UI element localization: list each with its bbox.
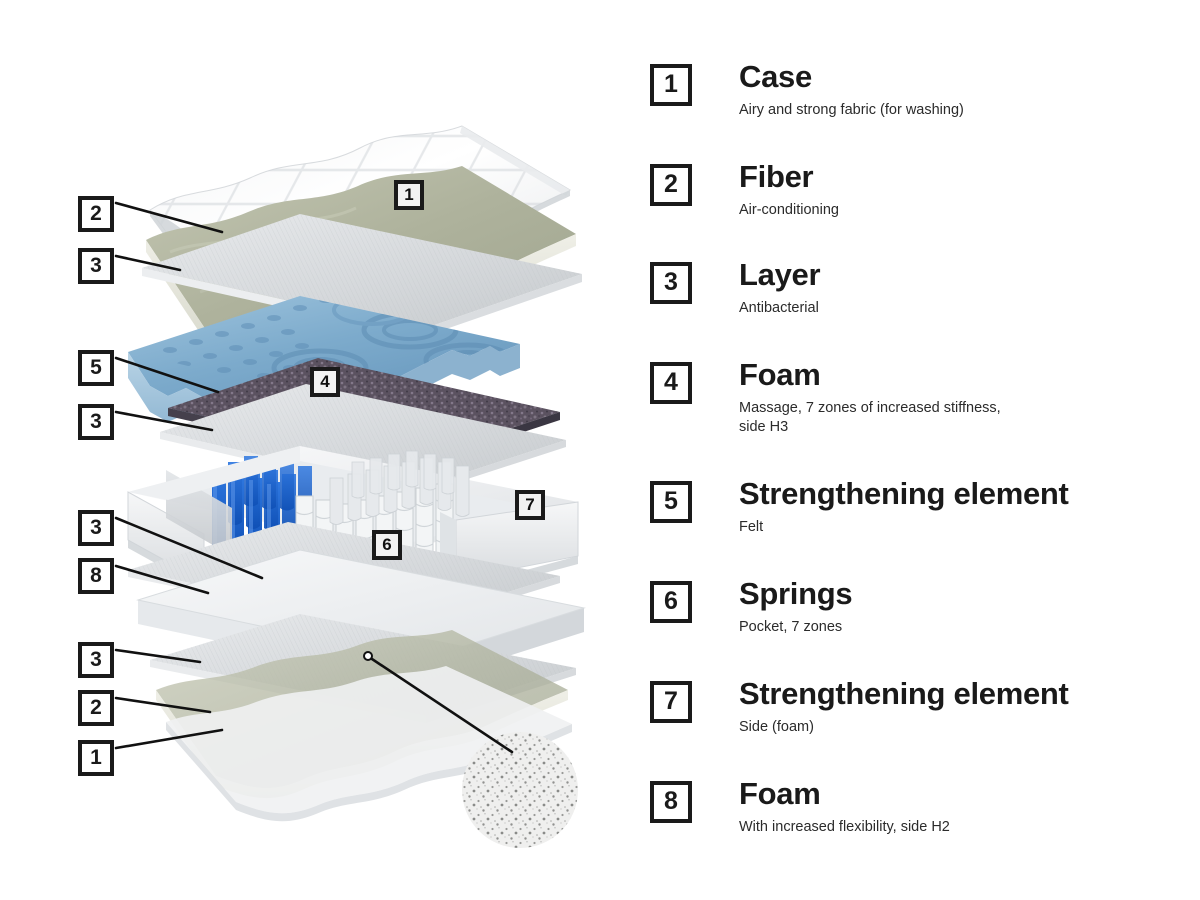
callout-marker[interactable]: 8 [78,558,114,594]
callout-marker[interactable]: 3 [78,642,114,678]
legend-badge-1: 1 [650,64,692,106]
legend-desc-6: Pocket, 7 zones [739,618,1199,637]
legend-title-8: Foam [739,775,1199,813]
callout-marker[interactable]: 3 [78,510,114,546]
diagram-badge-sidefoam[interactable]: 7 [515,490,545,520]
legend-desc-1: Airy and strong fabric (for washing) [739,101,1199,120]
legend-badge-3: 3 [650,262,692,304]
legend-text-7: Strengthening element Side (foam) [739,675,1199,737]
legend-title-6: Springs [739,575,1199,613]
callout-marker[interactable]: 2 [78,196,114,232]
legend-text-8: Foam With increased flexibility, side H2 [739,775,1199,837]
callout-marker[interactable]: 1 [78,740,114,776]
legend-badge-5: 5 [650,481,692,523]
legend-desc-2: Air-conditioning [739,201,1199,220]
legend-title-3: Layer [739,256,1199,294]
legend-text-2: Fiber Air-conditioning [739,158,1199,220]
diagram-badge-springs[interactable]: 6 [372,530,402,560]
legend-desc-8: With increased flexibility, side H2 [739,818,1199,837]
mattress-layers-infographic: 2 3 5 3 3 8 3 2 1 1 4 6 7 1 Case Airy an… [0,0,1200,900]
legend-text-5: Strengthening element Felt [739,475,1199,537]
legend-desc-5: Felt [739,518,1199,537]
legend-title-1: Case [739,58,1199,96]
legend-title-5: Strengthening element [739,475,1199,513]
diagram-badge-foam[interactable]: 4 [310,367,340,397]
callout-marker[interactable]: 2 [78,690,114,726]
legend-desc-3: Antibacterial [739,299,1199,318]
legend-text-3: Layer Antibacterial [739,256,1199,318]
legend-title-2: Fiber [739,158,1199,196]
legend-text-1: Case Airy and strong fabric (for washing… [739,58,1199,120]
callout-marker[interactable]: 3 [78,404,114,440]
legend-title-7: Strengthening element [739,675,1199,713]
legend-badge-8: 8 [650,781,692,823]
legend-badge-7: 7 [650,681,692,723]
legend-text-6: Springs Pocket, 7 zones [739,575,1199,637]
exploded-mattress-diagram: 2 3 5 3 3 8 3 2 1 1 4 6 7 [0,0,630,900]
legend-text-4: Foam Massage, 7 zones of increased stiff… [739,356,1199,437]
callout-marker[interactable]: 5 [78,350,114,386]
legend-desc-4: Massage, 7 zones of increased stiffness,… [739,399,1199,437]
callout-marker[interactable]: 3 [78,248,114,284]
legend-list: 1 Case Airy and strong fabric (for washi… [645,0,1200,900]
legend-title-4: Foam [739,356,1199,394]
legend-desc-7: Side (foam) [739,718,1199,737]
legend-badge-2: 2 [650,164,692,206]
legend-badge-4: 4 [650,362,692,404]
diagram-badge-case[interactable]: 1 [394,180,424,210]
legend-badge-6: 6 [650,581,692,623]
